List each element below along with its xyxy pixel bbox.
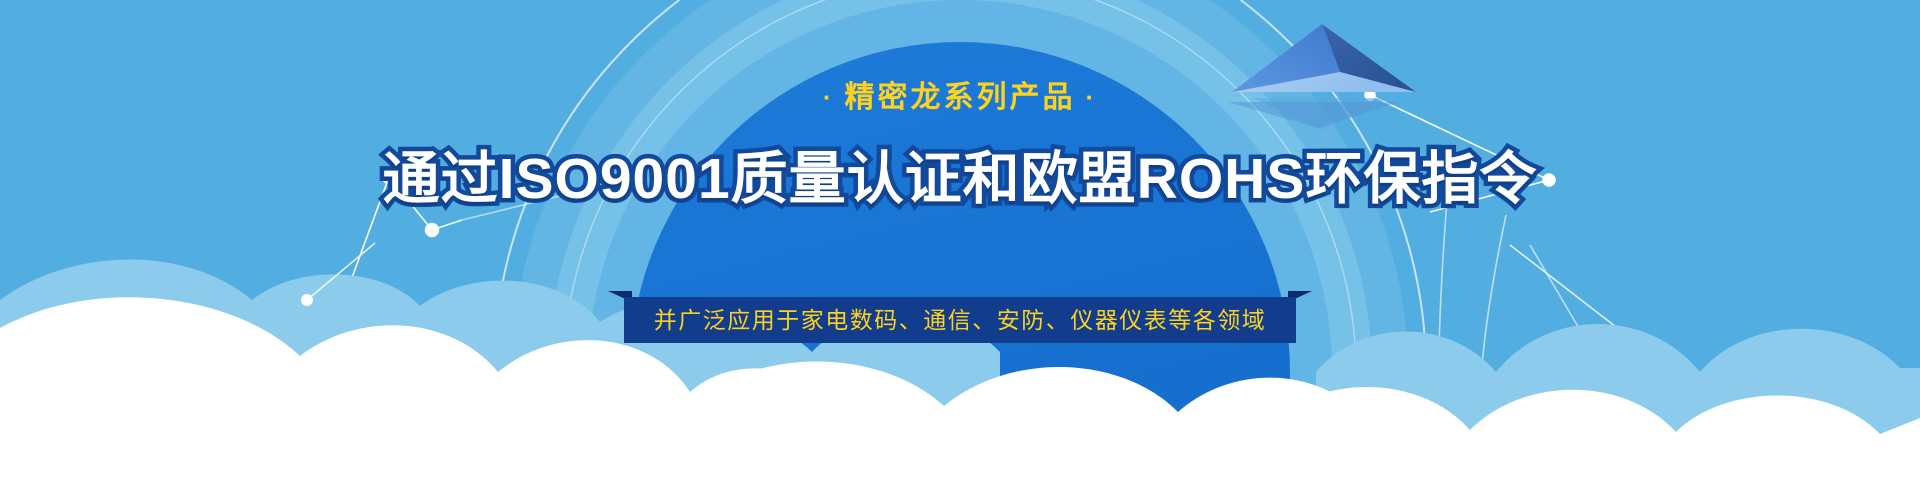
background-graphics (0, 0, 1920, 480)
ribbon-tails (608, 291, 1312, 343)
promo-banner: ·精密龙系列产品· 通过ISO9001质量认证和欧盟ROHS环保指令 并广泛应用… (0, 0, 1920, 480)
